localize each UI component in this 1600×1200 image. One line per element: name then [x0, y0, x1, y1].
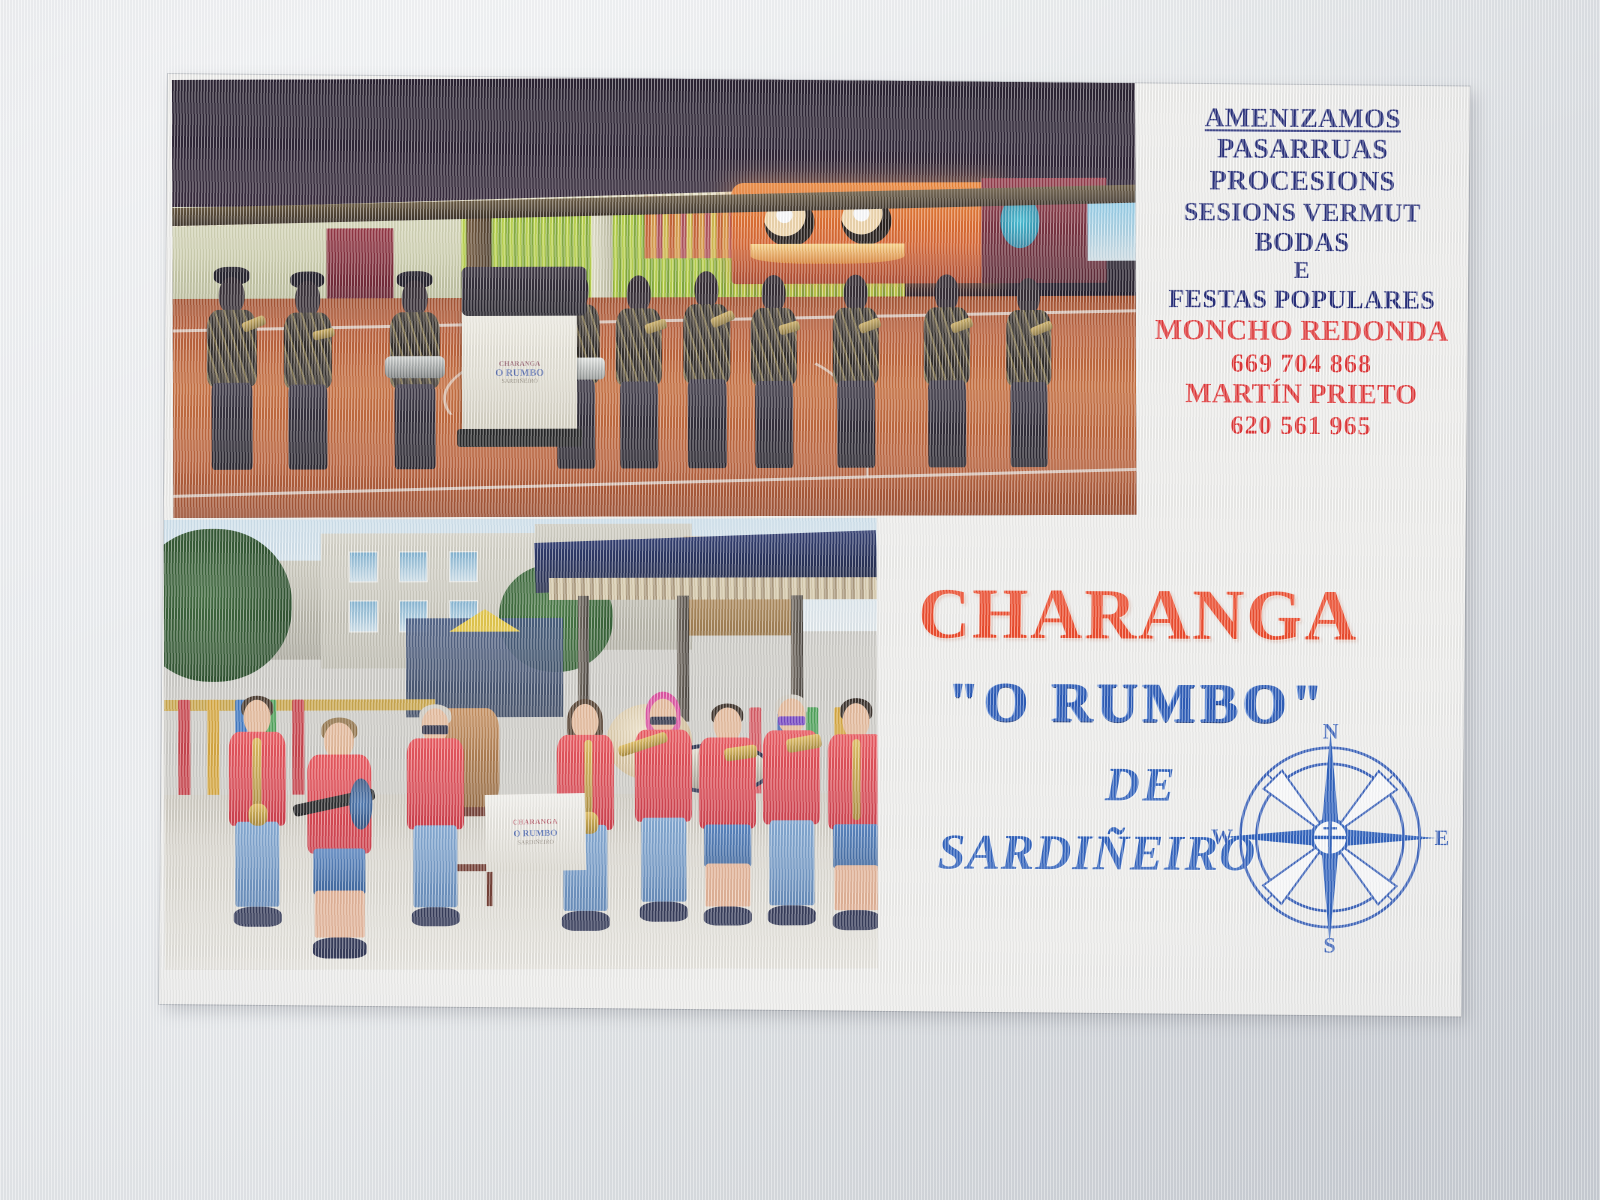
- service-item-bodas: BODAS: [1142, 226, 1462, 259]
- service-item-pasarruas: PASARRUAS: [1143, 133, 1463, 167]
- contact-name-moncho-redonda: MONCHO REDONDA: [1142, 314, 1462, 350]
- drum-cart-banner-bottom: CHARANGA O RUMBO SARDIÑEIRO: [485, 793, 586, 871]
- band-member-trumpet-boy: [699, 707, 757, 923]
- band-member-bagpipe-boy: [307, 722, 372, 956]
- contact-phone-moncho-redonda: 669 704 868: [1141, 347, 1461, 379]
- photo-bottom-day-band: CHARANGA O RUMBO SARDIÑEIRO: [164, 518, 878, 970]
- musician-silhouette: [924, 274, 971, 467]
- pavilion-roof-tiles: [549, 577, 877, 600]
- banner-line-1: CHARANGA: [499, 360, 540, 368]
- banner-line-1: CHARANGA: [512, 817, 557, 826]
- service-item-festas-populares: FESTAS POPULARES: [1142, 284, 1462, 316]
- compass-rose-svg: [1214, 722, 1445, 953]
- musician-silhouette: [683, 271, 731, 468]
- cart-base: [457, 429, 582, 447]
- band-member-purple-shades: [763, 698, 821, 923]
- contact-name-martin-prieto: MARTÍN PRIETO: [1141, 378, 1461, 412]
- drum-cart-banner-top: CHARANGA O RUMBO SARDIÑEIRO: [462, 306, 578, 438]
- musician-silhouette: [283, 281, 332, 469]
- musician-silhouette: [389, 281, 440, 470]
- musician-silhouette: [832, 275, 879, 468]
- window: [399, 551, 428, 583]
- float-mouth: [750, 244, 904, 264]
- musician-silhouette: [616, 275, 663, 468]
- compass-rose-icon: N S W E: [1214, 722, 1445, 953]
- band-member-percussion: [407, 708, 465, 924]
- window: [449, 551, 478, 583]
- musician-silhouette: [206, 277, 257, 470]
- services-heading: AMENIZAMOS: [1143, 102, 1463, 135]
- band-member-clarinet: [827, 703, 878, 928]
- brand-type-charanga: CHARANGA: [878, 572, 1398, 658]
- band-member-pink-wig: [635, 699, 693, 920]
- banner-line-3: SARDIÑEIRO: [501, 379, 537, 385]
- charanga-advertising-poster: CHARANGA O RUMBO SARDIÑEIRO: [159, 74, 1470, 1016]
- window: [349, 600, 378, 632]
- fence-picket: [178, 700, 190, 799]
- wall-door: [327, 228, 395, 303]
- banner-line-2: O RUMBO: [513, 827, 557, 838]
- fence-picket: [293, 700, 305, 799]
- banner-line-2: O RUMBO: [495, 368, 544, 379]
- cart-drums: [461, 267, 586, 316]
- service-item-conjunction: E: [1142, 257, 1462, 286]
- contact-phone-martin-prieto: 620 561 965: [1141, 410, 1461, 442]
- brand-text-panel: CHARANGA "O RUMBO" DE SARDIÑEIRO N S W E: [876, 534, 1464, 989]
- service-item-procesions: PROCESIONS: [1142, 165, 1462, 199]
- band-member-sax-left: [228, 700, 286, 925]
- fence-picket: [207, 700, 219, 799]
- musician-silhouette: [750, 275, 797, 468]
- window: [349, 551, 378, 583]
- banner-line-3: SARDIÑEIRO: [517, 839, 553, 846]
- photo-top-night-parade: CHARANGA O RUMBO SARDIÑEIRO: [172, 77, 1137, 518]
- services-text-panel: AMENIZAMOS PASARRUAS PROCESIONS SESIONS …: [1140, 94, 1463, 526]
- musician-silhouette: [1006, 278, 1052, 466]
- service-item-sesions-vermut: SESIONS VERMUT: [1142, 196, 1462, 228]
